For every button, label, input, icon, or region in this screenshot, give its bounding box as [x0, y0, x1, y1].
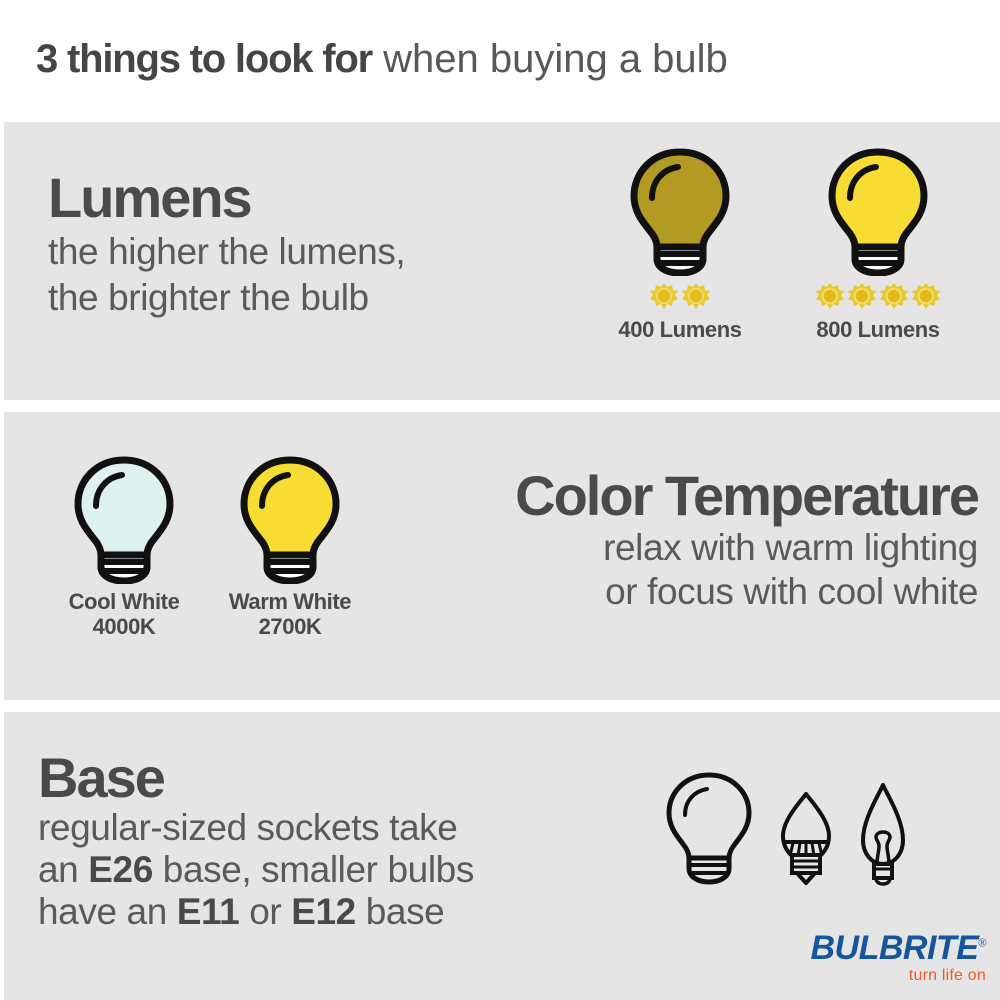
bulb-800-lumens-caption: 800 Lumens — [816, 318, 939, 343]
base-text-block: Base regular-sized sockets take an E26 b… — [38, 750, 474, 932]
base-line2-mid: base, smaller bulbs — [153, 849, 474, 890]
sun-icon — [911, 282, 941, 312]
bulb-warm-white-caption-line1: Warm White — [229, 590, 351, 615]
bulb-400-lumens-icon — [622, 146, 738, 276]
base-code-e26: E26 — [88, 849, 153, 890]
page-header: 3 things to look for when buying a bulb — [0, 0, 1000, 118]
bulb-warm-white-icon — [232, 454, 348, 584]
base-subtitle-line2: an E26 base, smaller bulbs — [38, 850, 474, 890]
bulb-400-lumens-group: 400 Lumens — [604, 146, 756, 343]
sun-icon — [879, 282, 909, 312]
brand-logo-tagline: turn life on — [811, 968, 987, 984]
base-line2-pre: an — [38, 849, 88, 890]
page-title-light: when buying a bulb — [372, 37, 728, 81]
bulb-cool-white-group: Cool White 4000K — [50, 454, 198, 639]
base-graphics — [659, 770, 913, 886]
bulb-warm-white-caption: Warm White 2700K — [229, 590, 351, 639]
base-subtitle-line3: have an E11 or E12 base — [38, 892, 474, 932]
base-line3-pre: have an — [38, 891, 177, 932]
lumens-graphics: 400 Lumens — [604, 146, 994, 343]
registered-trademark-icon: ® — [978, 938, 986, 950]
candelabra-torpedo-bulb-outline-icon — [773, 790, 839, 886]
bulb-warm-white-caption-line2: 2700K — [229, 615, 351, 640]
bulb-cool-white-caption-line1: Cool White — [69, 590, 180, 615]
sun-icon — [681, 282, 711, 312]
standard-a-bulb-outline-icon — [659, 770, 759, 886]
sun-icon — [649, 282, 679, 312]
color-temperature-subtitle-line1: relax with warm lighting — [515, 528, 978, 568]
section-lumens: Lumens the higher the lumens, the bright… — [4, 122, 1000, 400]
lumens-suns-400 — [649, 282, 711, 312]
base-subtitle-line1: regular-sized sockets take — [38, 808, 474, 848]
bulb-cool-white-caption-line2: 4000K — [69, 615, 180, 640]
lumens-subtitle-line1: the higher the lumens, — [48, 232, 405, 272]
page-title-bold: 3 things to look for — [36, 37, 372, 81]
color-temperature-text-block: Color Temperature relax with warm lighti… — [515, 468, 978, 612]
base-line3-post: base — [356, 891, 445, 932]
lumens-heading: Lumens — [48, 170, 405, 226]
brand-logo-wordmark: BULBRITE® — [811, 931, 987, 965]
bulb-warm-white-group: Warm White 2700K — [216, 454, 364, 639]
bulb-800-lumens-icon — [820, 146, 936, 276]
flame-tip-bulb-outline-icon — [853, 782, 913, 886]
section-base: Base regular-sized sockets take an E26 b… — [4, 712, 1000, 1000]
brand-logo-text: BULBRITE — [811, 929, 979, 967]
color-temperature-graphics: Cool White 4000K Warm White 2700K — [50, 454, 364, 639]
base-heading: Base — [38, 750, 474, 806]
page-title: 3 things to look for when buying a bulb — [0, 39, 728, 79]
bulb-cool-white-caption: Cool White 4000K — [69, 590, 180, 639]
bulb-800-lumens-group: 800 Lumens — [802, 146, 954, 343]
bulb-400-lumens-caption: 400 Lumens — [618, 318, 741, 343]
base-line3-mid: or — [239, 891, 291, 932]
sun-icon — [815, 282, 845, 312]
color-temperature-subtitle-line2: or focus with cool white — [515, 572, 978, 612]
base-code-e11: E11 — [177, 891, 240, 932]
section-color-temperature: Cool White 4000K Warm White 2700K Color — [4, 412, 1000, 700]
lumens-suns-800 — [815, 282, 941, 312]
color-temperature-heading: Color Temperature — [515, 468, 978, 524]
sun-icon — [847, 282, 877, 312]
bulb-cool-white-icon — [66, 454, 182, 584]
lumens-text-block: Lumens the higher the lumens, the bright… — [48, 170, 405, 318]
base-code-e12: E12 — [291, 891, 356, 932]
brand-logo: BULBRITE® turn life on — [811, 931, 987, 984]
lumens-subtitle-line2: the brighter the bulb — [48, 278, 405, 318]
